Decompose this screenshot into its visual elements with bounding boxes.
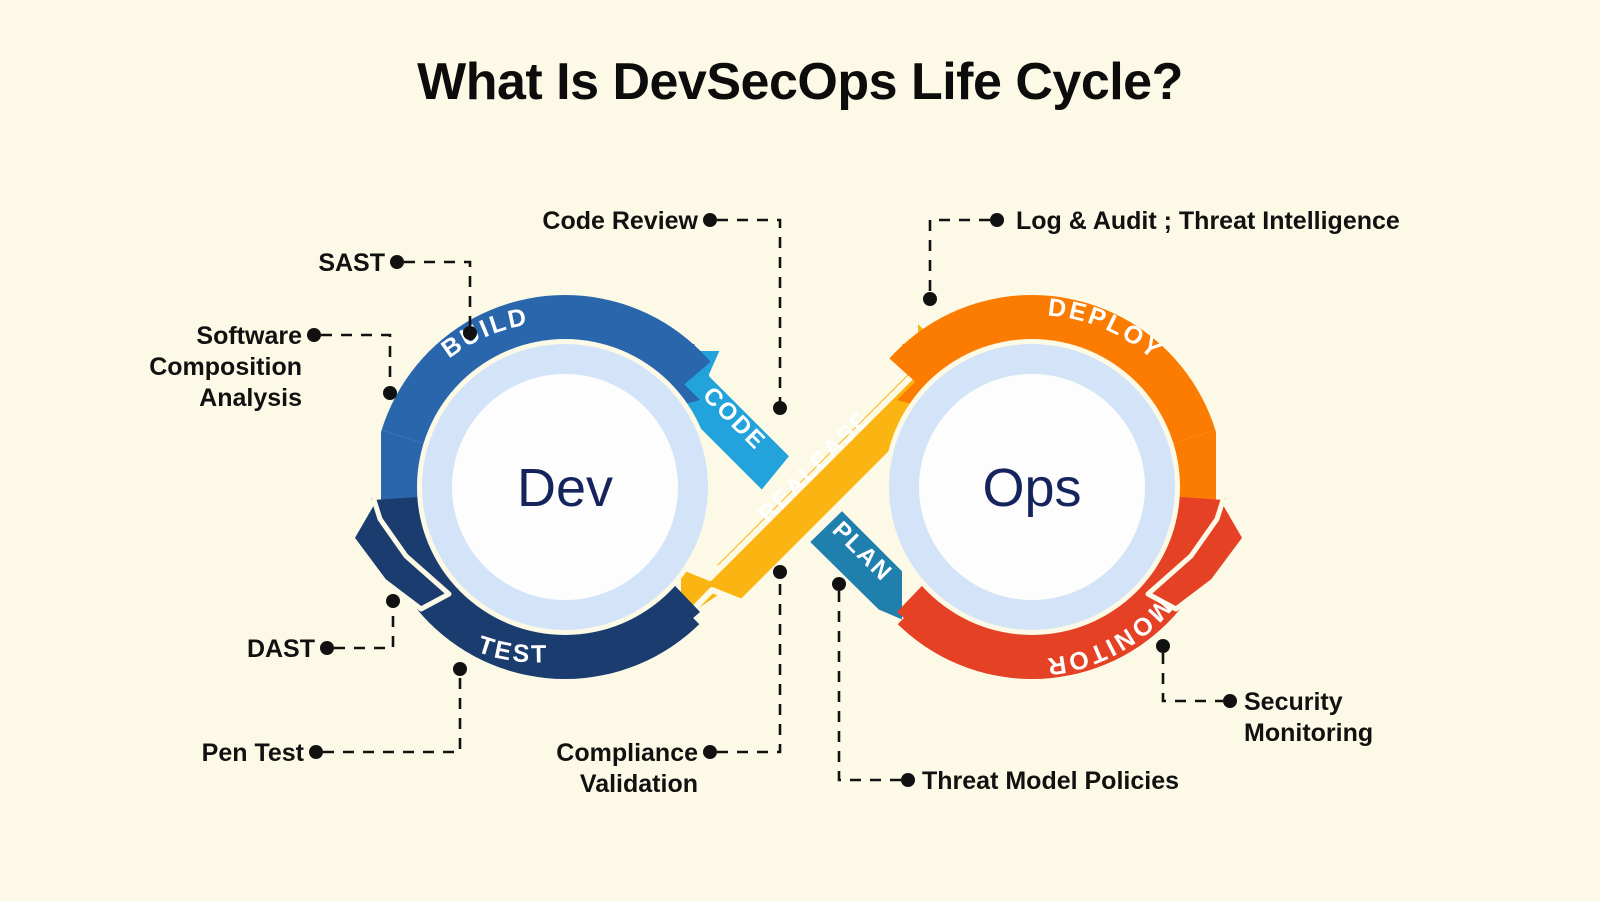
diagram-canvas: What Is DevSecOps Life Cycle? (0, 0, 1600, 901)
dev-center-label: Dev (517, 458, 613, 518)
callout-label-threat-model-policies: Threat Model Policies (922, 766, 1179, 797)
leader-line-software-composition-analysis (307, 328, 397, 400)
leader-line-security-monitoring (1156, 639, 1237, 708)
callout-label-dast: DAST (247, 634, 315, 665)
leader-line-pen-test (309, 662, 467, 759)
dev-ring: Dev BUILD TEST (352, 276, 722, 681)
callout-label-sast: SAST (318, 248, 385, 279)
callout-label-compliance-validation: Compliance Validation (556, 738, 698, 800)
callout-label-security-monitoring: Security Monitoring (1244, 687, 1373, 749)
callout-label-pen-test: Pen Test (202, 738, 304, 769)
callout-label-log-audit: Log & Audit ; Threat Intelligence (1016, 206, 1400, 237)
callout-label-software-composition-analysis: Software Composition Analysis (149, 321, 302, 414)
leader-line-dast (320, 594, 400, 655)
callout-label-code-review: Code Review (542, 206, 698, 237)
ops-center-label: Ops (982, 458, 1081, 518)
ops-ring: Ops DEPLOY MONITOR (880, 280, 1245, 681)
